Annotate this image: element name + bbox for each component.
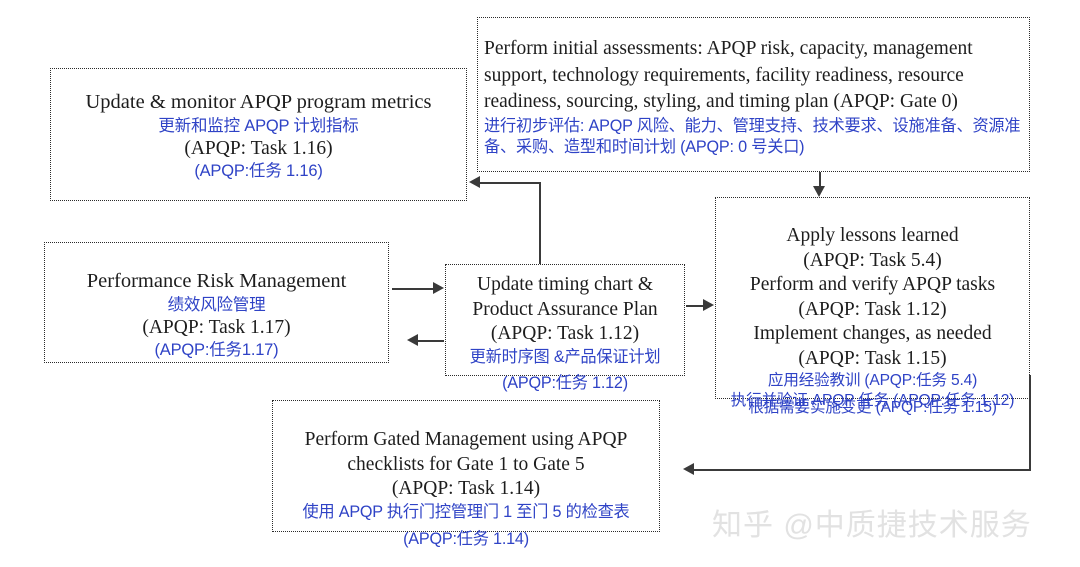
connector-timing-to-risk-line [418,340,444,342]
box-risk-cn-line-2: (APQP:任务1.17) [45,340,388,361]
box-gated-en-line-1: Perform Gated Management using APQP [273,428,659,453]
box-timing-cn-line-2: (APQP:任务 1.12) [446,373,684,393]
connector-lessons-to-gated-arrowhead [683,463,694,475]
box-metrics-en-line-1: Update & monitor APQP program metrics [51,90,466,116]
connector-initial-to-lessons-arrowhead [813,186,825,197]
process-box-performance-risk-management[interactable]: Performance Risk Management 绩效风险管理 (APQP… [44,242,389,363]
connector-lessons-to-gated-horizontal [694,469,1030,471]
box-gated-en-line-3: (APQP: Task 1.14) [273,477,659,502]
box-gated-en-line-2: checklists for Gate 1 to Gate 5 [273,453,659,478]
process-box-update-monitor-metrics[interactable]: Update & monitor APQP program metrics 更新… [50,68,467,201]
process-box-perform-initial-assessments[interactable]: Perform initial assessments: APQP risk, … [477,17,1030,172]
box-lessons-en-line-3: Perform and verify APQP tasks [716,273,1029,298]
box-lessons-en-line-4: (APQP: Task 1.12) [716,298,1029,323]
box-lessons-en-line-6: (APQP: Task 1.15) [716,347,1029,372]
connector-timing-to-metrics-arrowhead [469,176,480,188]
diagram-canvas: Update & monitor APQP program metrics 更新… [0,0,1080,567]
box-lessons-cn-line-3: 根据需要实施变更 (APQP:任务 1.15) [716,398,1029,418]
process-box-update-timing-chart[interactable]: Update timing chart & Product Assurance … [445,264,685,376]
box-initial-en-line-1: Perform initial assessments: APQP risk, … [484,36,1023,63]
box-timing-en-line-3: (APQP: Task 1.12) [446,322,684,347]
box-metrics-en-line-2: (APQP: Task 1.16) [51,137,466,162]
box-gated-cn-line-2: (APQP:任务 1.14) [273,529,659,549]
box-metrics-cn-line-2: (APQP:任务 1.16) [51,161,466,182]
connector-lessons-to-gated-vertical [1029,375,1031,471]
connector-timing-to-lessons-arrowhead [703,299,714,311]
box-gated-cn-line-1: 使用 APQP 执行门控管理门 1 至门 5 的检查表 [273,502,659,522]
box-lessons-en-line-1: Apply lessons learned [716,224,1029,249]
box-initial-cn-line-2: 备、采购、造型和时间计划 (APQP: 0 号关口) [484,137,1023,158]
connector-timing-to-metrics-horizontal [480,182,540,184]
watermark-text: 知乎 @中质捷技术服务 [712,500,1032,544]
box-risk-en-line-2: (APQP: Task 1.17) [45,316,388,341]
connector-timing-to-risk-arrowhead [407,334,418,346]
box-timing-cn-line-1: 更新时序图 &产品保证计划 [446,347,684,367]
process-box-apply-lessons-learned[interactable]: Apply lessons learned (APQP: Task 5.4) P… [715,197,1030,399]
connector-risk-to-timing-arrowhead [433,282,444,294]
box-initial-cn-line-1: 进行初步评估: APQP 风险、能力、管理支持、技术要求、设施准备、资源准 [484,116,1023,137]
box-timing-en-line-2: Product Assurance Plan [446,298,684,323]
box-timing-en-line-1: Update timing chart & [446,273,684,298]
box-metrics-cn-line-1: 更新和监控 APQP 计划指标 [51,116,466,137]
connector-timing-to-lessons-line [686,305,704,307]
box-risk-cn-line-1: 绩效风险管理 [45,295,388,316]
box-lessons-en-line-5: Implement changes, as needed [716,322,1029,347]
box-risk-en-line-1: Performance Risk Management [45,269,388,295]
connector-risk-to-timing-line [392,288,434,290]
process-box-perform-gated-management[interactable]: Perform Gated Management using APQP chec… [272,400,660,532]
connector-timing-to-metrics-vertical [539,182,541,264]
box-lessons-en-line-2: (APQP: Task 5.4) [716,249,1029,274]
box-initial-en-line-2: support, technology requirements, facili… [484,63,1023,90]
box-initial-en-line-3: readiness, sourcing, styling, and timing… [484,89,1023,116]
box-lessons-cn-line-1: 应用经验教训 (APQP:任务 5.4) [716,371,1029,391]
